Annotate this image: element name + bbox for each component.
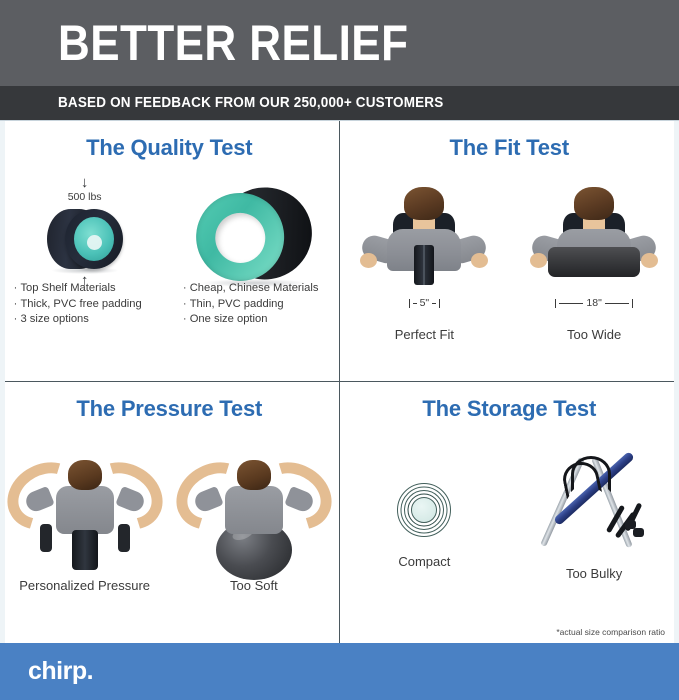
measurement-5in: 5": [409, 296, 441, 311]
pressure-toosoft-caption: Too Soft: [230, 578, 278, 593]
pressure-toosoft-column: Too Soft: [169, 428, 338, 603]
nested-rings-icon: [398, 484, 450, 536]
person-back-with-foam-roller-icon: [534, 185, 654, 294]
storage-bulky-column: Too Bulky: [509, 428, 679, 603]
list-item: 3 size options: [14, 312, 156, 328]
chirp-logo: chirp.: [28, 657, 93, 686]
list-item: Thin, PVC padding: [183, 297, 325, 313]
list-item: Top Shelf Materials: [14, 281, 156, 297]
fit-perfect-column: 5" Perfect Fit: [340, 167, 510, 342]
quality-chirp-column: ↓ 500 lbs ↑: [0, 167, 169, 372]
bulky-equipment-icon: [529, 434, 659, 564]
quadrant-title: The Fit Test: [340, 135, 679, 161]
measurement-label: 18": [586, 297, 601, 309]
quadrant-pressure-test: The Pressure Test Pers: [0, 382, 340, 643]
competitor-bullet-cell: Cheap, Chinese Materials Thin, PVC paddi…: [169, 281, 338, 328]
competitor-wheel-icon: [190, 181, 318, 288]
list-item: One size option: [183, 312, 325, 328]
storage-comparison-row: Compact: [340, 428, 679, 603]
list-item: Cheap, Chinese Materials: [183, 281, 325, 297]
header-subtitle-bar: BASED ON FEEDBACK FROM OUR 250,000+ CUST…: [0, 86, 679, 120]
storage-footnote: *actual size comparison ratio: [556, 627, 665, 637]
page-title: BETTER RELIEF: [58, 18, 408, 68]
quadrant-title: The Storage Test: [340, 396, 679, 422]
measurement-label: 5": [420, 297, 430, 309]
person-on-exercise-ball-icon: [179, 452, 329, 572]
footer-bar: chirp.: [0, 643, 679, 700]
quadrant-title: The Quality Test: [0, 135, 339, 161]
fit-toowide-caption: Too Wide: [567, 327, 621, 342]
quality-competitor-column: [169, 167, 338, 372]
chirp-bullet-list: Top Shelf Materials Thick, PVC free padd…: [14, 281, 156, 328]
quadrant-fit-test: The Fit Test: [340, 121, 679, 382]
competitor-bullet-list: Cheap, Chinese Materials Thin, PVC paddi…: [183, 281, 325, 328]
storage-bulky-caption: Too Bulky: [566, 566, 622, 581]
infographic-page: BETTER RELIEF BASED ON FEEDBACK FROM OUR…: [0, 0, 679, 679]
quadrant-quality-test: The Quality Test ↓ 500 lbs: [0, 121, 340, 382]
fit-comparison-row: 5" Perfect Fit: [340, 167, 679, 342]
measurement-18in: 18": [555, 296, 632, 311]
pressure-comparison-row: Personalized Pressure Too Soft: [0, 428, 339, 603]
storage-compact-caption: Compact: [398, 554, 450, 569]
header-banner: BETTER RELIEF: [0, 0, 679, 86]
quality-bullet-row: Top Shelf Materials Thick, PVC free padd…: [0, 281, 339, 328]
chirp-wheel-icon: [47, 209, 123, 269]
arrow-down-icon: ↓: [81, 175, 89, 190]
header-subtitle: BASED ON FEEDBACK FROM OUR 250,000+ CUST…: [58, 95, 443, 111]
fit-toowide-column: 18" Too Wide: [509, 167, 679, 342]
quadrant-storage-test: The Storage Test Compact: [340, 382, 679, 643]
quadrant-title: The Pressure Test: [0, 396, 339, 422]
quality-comparison-row: ↓ 500 lbs ↑: [0, 167, 339, 372]
list-item: Thick, PVC free padding: [14, 297, 156, 313]
storage-compact-column: Compact: [340, 428, 510, 603]
person-on-wheel-icon: [10, 452, 160, 572]
weight-label: 500 lbs: [68, 191, 102, 203]
pressure-personalized-column: Personalized Pressure: [0, 428, 169, 603]
person-back-with-wheel-icon: [364, 185, 484, 294]
pressure-personalized-caption: Personalized Pressure: [19, 578, 150, 593]
fit-perfect-caption: Perfect Fit: [395, 327, 454, 342]
comparison-grid: The Quality Test ↓ 500 lbs: [0, 120, 679, 643]
chirp-bullet-cell: Top Shelf Materials Thick, PVC free padd…: [0, 281, 169, 328]
